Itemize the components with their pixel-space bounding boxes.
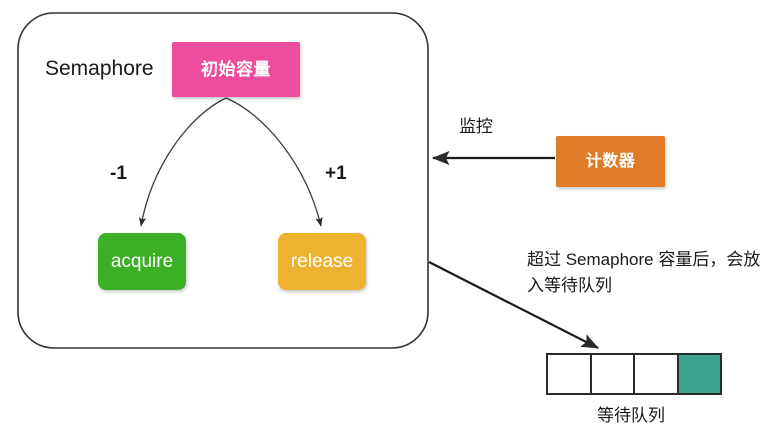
queue-cell <box>679 355 721 393</box>
node-initial-capacity-label: 初始容量 <box>201 61 271 78</box>
diagram-canvas: Semaphore 初始容量 acquire release 计数器 -1 +1… <box>0 0 780 448</box>
node-counter-label: 计数器 <box>586 154 636 170</box>
node-release[interactable]: release <box>278 233 366 290</box>
queue-cell <box>548 355 592 393</box>
edge-capacity-to-acquire <box>141 98 226 226</box>
node-acquire[interactable]: acquire <box>98 233 186 290</box>
semaphore-title-label: Semaphore <box>45 58 154 79</box>
node-acquire-label: acquire <box>111 252 173 271</box>
edge-label-monitor: 监控 <box>459 118 493 135</box>
queue-cell <box>635 355 679 393</box>
edge-capacity-to-release <box>226 98 321 226</box>
wait-queue <box>546 353 722 395</box>
wait-queue-caption: 等待队列 <box>597 407 665 424</box>
edge-label-decrement: -1 <box>110 164 127 183</box>
queue-cell <box>592 355 636 393</box>
node-release-label: release <box>291 252 353 271</box>
edge-label-increment: +1 <box>325 164 347 183</box>
node-counter[interactable]: 计数器 <box>556 136 665 187</box>
overflow-note-text: 超过 Semaphore 容量后，会放入等待队列 <box>527 247 777 300</box>
node-initial-capacity[interactable]: 初始容量 <box>172 42 300 97</box>
